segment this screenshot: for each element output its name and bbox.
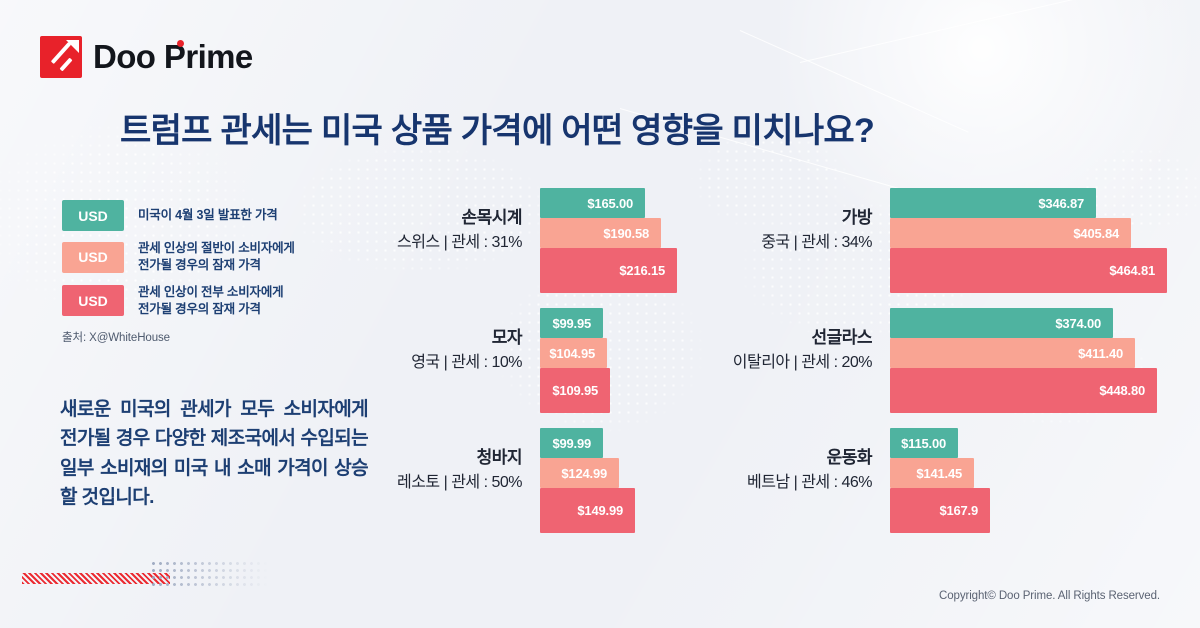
- chart-bar: $109.95: [540, 368, 610, 413]
- chart-bar: $216.15: [540, 248, 677, 293]
- chart-bar: $190.58: [540, 218, 661, 248]
- bar-value-label: $99.95: [552, 316, 603, 331]
- product-name: 모자: [380, 326, 522, 351]
- chart-group-label: 운동화베트남 | 관세 : 46%: [700, 446, 872, 494]
- legend: USD 미국이 4월 3일 발표한 가격 USD 관세 인상의 절반이 소비자에…: [62, 200, 362, 345]
- bar-stack: $99.99$124.99$149.99: [540, 428, 635, 533]
- bar-value-label: $448.80: [1099, 383, 1157, 398]
- country-tariff: 이탈리아 | 관세 : 20%: [700, 351, 872, 374]
- doo-prime-mark-icon: [40, 36, 82, 78]
- bar-value-label: $190.58: [603, 226, 661, 241]
- chart-column-right: 가방중국 | 관세 : 34%$346.87$405.84$464.81선글라스…: [700, 180, 1170, 540]
- chart-column-left: 손목시계스위스 | 관세 : 31%$165.00$190.58$216.15모…: [380, 180, 690, 540]
- chart-group-label: 가방중국 | 관세 : 34%: [700, 206, 872, 254]
- chart-group: 운동화베트남 | 관세 : 46%$115.00$141.45$167.9: [700, 420, 1170, 540]
- logo-accent-dot-icon: [177, 40, 184, 47]
- bar-stack: $346.87$405.84$464.81: [890, 188, 1167, 293]
- decorative-stripe-bar: [22, 573, 170, 584]
- legend-item: USD 관세 인상의 절반이 소비자에게전가될 경우의 잠재 가격: [62, 240, 362, 275]
- bar-value-label: $216.15: [619, 263, 677, 278]
- legend-swatch-full: USD: [62, 285, 124, 316]
- chart-group-label: 손목시계스위스 | 관세 : 31%: [380, 206, 522, 254]
- decorative-halftone-dots: [150, 560, 268, 588]
- bar-stack: $99.95$104.95$109.95: [540, 308, 610, 413]
- chart-group-label: 모자영국 | 관세 : 10%: [380, 326, 522, 374]
- bar-stack: $374.00$411.40$448.80: [890, 308, 1157, 413]
- bar-stack: $115.00$141.45$167.9: [890, 428, 990, 533]
- bar-value-label: $109.95: [552, 383, 610, 398]
- bar-value-label: $464.81: [1109, 263, 1167, 278]
- chart-group: 청바지레소토 | 관세 : 50%$99.99$124.99$149.99: [380, 420, 690, 540]
- bar-value-label: $141.45: [916, 466, 974, 481]
- chart-bar: $124.99: [540, 458, 619, 488]
- bar-value-label: $405.84: [1073, 226, 1131, 241]
- product-name: 선글라스: [700, 326, 872, 351]
- chart-group: 손목시계스위스 | 관세 : 31%$165.00$190.58$216.15: [380, 180, 690, 300]
- bar-value-label: $346.87: [1038, 196, 1096, 211]
- chart-bar: $141.45: [890, 458, 974, 488]
- country-tariff: 레소토 | 관세 : 50%: [380, 471, 522, 494]
- country-tariff: 베트남 | 관세 : 46%: [700, 471, 872, 494]
- description-paragraph: 새로운 미국의 관세가 모두 소비자에게 전가될 경우 다양한 제조국에서 수입…: [60, 395, 368, 513]
- page-title: 트럼프 관세는 미국 상품 가격에 어떤 영향을 미치나요?: [120, 103, 874, 152]
- brand-logo-text: Doo Prime: [93, 38, 253, 76]
- legend-label-announced: 미국이 4월 3일 발표한 가격: [138, 207, 278, 224]
- chart-bar: $346.87: [890, 188, 1096, 218]
- bar-value-label: $149.99: [577, 503, 635, 518]
- country-tariff: 중국 | 관세 : 34%: [700, 231, 872, 254]
- bar-value-label: $165.00: [587, 196, 645, 211]
- product-name: 가방: [700, 206, 872, 231]
- chart-group-label: 선글라스이탈리아 | 관세 : 20%: [700, 326, 872, 374]
- legend-swatch-half: USD: [62, 242, 124, 273]
- chart-bar: $149.99: [540, 488, 635, 533]
- legend-label-half: 관세 인상의 절반이 소비자에게전가될 경우의 잠재 가격: [138, 240, 295, 275]
- chart-group: 가방중국 | 관세 : 34%$346.87$405.84$464.81: [700, 180, 1170, 300]
- product-name: 손목시계: [380, 206, 522, 231]
- chart-bar: $99.95: [540, 308, 603, 338]
- chart-bar: $374.00: [890, 308, 1113, 338]
- legend-label-full: 관세 인상이 전부 소비자에게전가될 경우의 잠재 가격: [138, 284, 283, 319]
- footer-copyright: Copyright© Doo Prime. All Rights Reserve…: [939, 590, 1160, 602]
- bar-stack: $165.00$190.58$216.15: [540, 188, 677, 293]
- chart-bar: $99.99: [540, 428, 603, 458]
- bar-value-label: $99.99: [552, 436, 603, 451]
- chart-bar: $448.80: [890, 368, 1157, 413]
- chart-bar: $115.00: [890, 428, 958, 458]
- tariff-price-chart: 손목시계스위스 | 관세 : 31%$165.00$190.58$216.15모…: [380, 180, 1170, 545]
- bar-value-label: $167.9: [939, 503, 990, 518]
- chart-bar: $464.81: [890, 248, 1167, 293]
- product-name: 청바지: [380, 446, 522, 471]
- legend-item: USD 미국이 4월 3일 발표한 가격: [62, 200, 362, 231]
- chart-group: 모자영국 | 관세 : 10%$99.95$104.95$109.95: [380, 300, 690, 420]
- brand-logo-label: Doo Prime: [93, 38, 253, 75]
- chart-bar: $405.84: [890, 218, 1131, 248]
- bar-value-label: $115.00: [901, 436, 958, 451]
- bar-value-label: $124.99: [561, 466, 619, 481]
- bar-value-label: $411.40: [1078, 346, 1135, 361]
- legend-item: USD 관세 인상이 전부 소비자에게전가될 경우의 잠재 가격: [62, 284, 362, 319]
- brand-logo: Doo Prime: [40, 36, 253, 78]
- legend-swatch-announced: USD: [62, 200, 124, 231]
- chart-bar: $104.95: [540, 338, 607, 368]
- source-attribution: 출처: X@WhiteHouse: [62, 329, 362, 345]
- chart-bar: $167.9: [890, 488, 990, 533]
- chart-group-label: 청바지레소토 | 관세 : 50%: [380, 446, 522, 494]
- bar-value-label: $104.95: [549, 346, 607, 361]
- country-tariff: 영국 | 관세 : 10%: [380, 351, 522, 374]
- chart-bar: $411.40: [890, 338, 1135, 368]
- chart-group: 선글라스이탈리아 | 관세 : 20%$374.00$411.40$448.80: [700, 300, 1170, 420]
- bar-value-label: $374.00: [1055, 316, 1113, 331]
- product-name: 운동화: [700, 446, 872, 471]
- country-tariff: 스위스 | 관세 : 31%: [380, 231, 522, 254]
- chart-bar: $165.00: [540, 188, 645, 218]
